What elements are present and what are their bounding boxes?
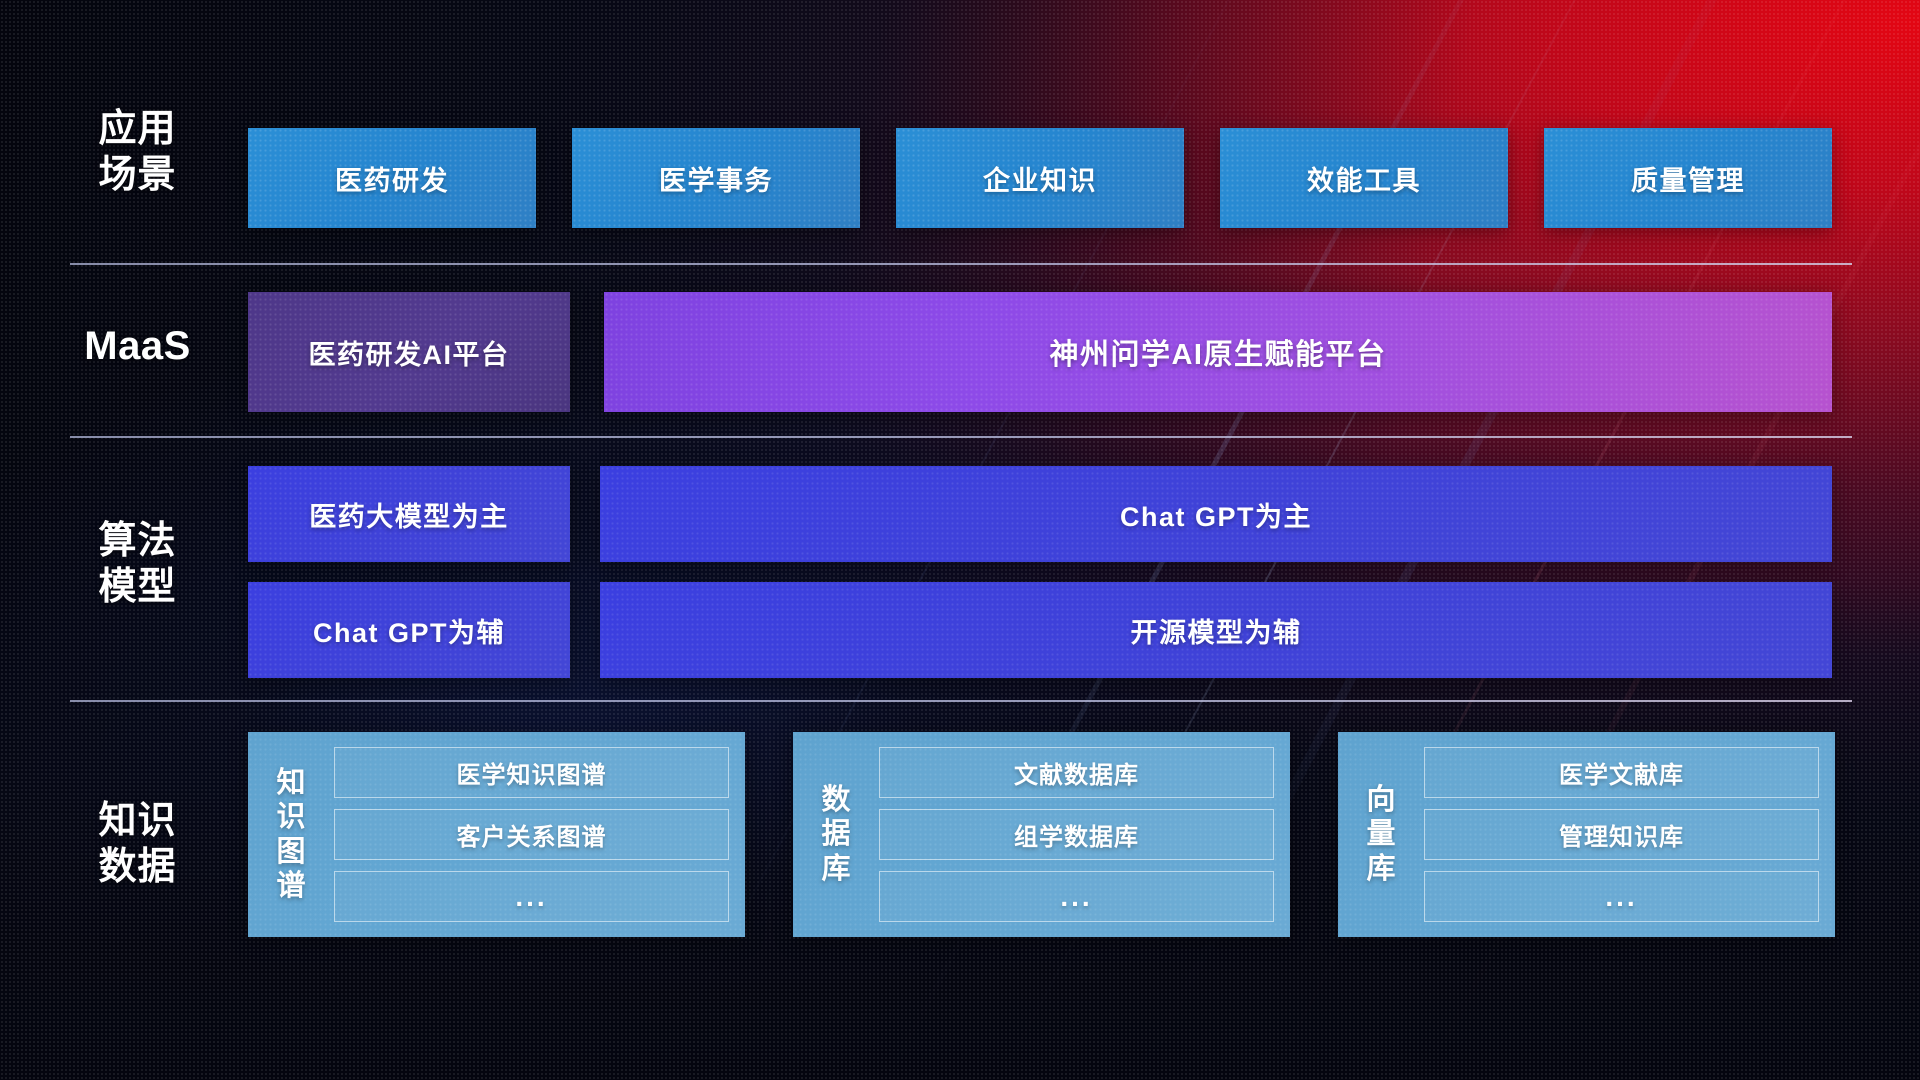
architecture-diagram: 应用场景医药研发医学事务企业知识效能工具质量管理MaaS医药研发AI平台神州问学…: [0, 0, 1920, 1080]
knowledge-item[interactable]: 客户关系图谱: [334, 809, 729, 860]
knowledge-panel-title-char: 库: [807, 852, 865, 886]
maas-box-label: 医药研发AI平台: [309, 333, 510, 372]
knowledge-panel-3[interactable]: 向量库医学文献库管理知识库...: [1338, 732, 1835, 937]
knowledge-item[interactable]: 医学文献库: [1424, 747, 1819, 798]
knowledge-item[interactable]: 文献数据库: [879, 747, 1274, 798]
knowledge-item[interactable]: ...: [879, 871, 1274, 922]
row-label-line: 算法: [70, 518, 205, 564]
maas-box-1[interactable]: 医药研发AI平台: [248, 292, 570, 412]
knowledge-item[interactable]: ...: [334, 871, 729, 922]
algo-bar-right-1[interactable]: Chat GPT为主: [600, 466, 1832, 562]
row-label-line: 场景: [70, 152, 205, 198]
algo-bar-label: 医药大模型为主: [309, 495, 509, 534]
row-label-maas: MaaS: [70, 322, 205, 371]
row-label-line: 应用: [70, 106, 205, 152]
knowledge-panel-title-char: 库: [1352, 852, 1410, 886]
maas-box-label: 神州问学AI原生赋能平台: [1049, 331, 1386, 373]
algo-bar-right-2[interactable]: 开源模型为辅: [600, 582, 1832, 678]
row-label-line: 模型: [70, 564, 205, 610]
row-label-knowledge-data: 知识数据: [70, 798, 205, 891]
knowledge-panel-title: 知识图谱: [262, 766, 320, 903]
knowledge-panel-title-char: 向: [1352, 783, 1410, 817]
knowledge-panel-title-char: 谱: [262, 869, 320, 903]
row-label-line: MaaS: [70, 322, 205, 371]
algo-bar-left-2[interactable]: Chat GPT为辅: [248, 582, 570, 678]
scenario-card-3[interactable]: 企业知识: [896, 128, 1184, 228]
knowledge-item[interactable]: 医学知识图谱: [334, 747, 729, 798]
knowledge-item[interactable]: 管理知识库: [1424, 809, 1819, 860]
knowledge-panel-title-char: 知: [262, 766, 320, 800]
scenario-card-5[interactable]: 质量管理: [1544, 128, 1832, 228]
scenario-card-label: 效能工具: [1307, 159, 1421, 198]
knowledge-item[interactable]: ...: [1424, 871, 1819, 922]
knowledge-panel-2[interactable]: 数据库文献数据库组学数据库...: [793, 732, 1290, 937]
knowledge-panel-title-char: 量: [1352, 817, 1410, 851]
knowledge-panel-title-char: 据: [807, 817, 865, 851]
scenario-card-label: 企业知识: [983, 159, 1097, 198]
knowledge-panel-title-char: 数: [807, 783, 865, 817]
scenario-card-2[interactable]: 医学事务: [572, 128, 860, 228]
knowledge-panel-item-list: 医学知识图谱客户关系图谱...: [334, 747, 729, 922]
row-label-application-scenarios: 应用场景: [70, 106, 205, 199]
knowledge-panel-item-list: 医学文献库管理知识库...: [1424, 747, 1819, 922]
scenario-card-label: 医药研发: [335, 159, 449, 198]
scenario-card-label: 质量管理: [1631, 159, 1745, 198]
knowledge-panel-1[interactable]: 知识图谱医学知识图谱客户关系图谱...: [248, 732, 745, 937]
algo-bar-label: Chat GPT为主: [1120, 495, 1312, 534]
algo-bar-left-1[interactable]: 医药大模型为主: [248, 466, 570, 562]
row-label-line: 数据: [70, 844, 205, 890]
knowledge-panel-title: 向量库: [1352, 783, 1410, 886]
section-divider: [70, 436, 1852, 438]
knowledge-panel-title-char: 图: [262, 835, 320, 869]
algo-bar-label: 开源模型为辅: [1131, 611, 1302, 650]
knowledge-panel-title-char: 识: [262, 800, 320, 834]
row-label-line: 知识: [70, 798, 205, 844]
knowledge-panel-item-list: 文献数据库组学数据库...: [879, 747, 1274, 922]
algo-bar-label: Chat GPT为辅: [313, 611, 505, 650]
scenario-card-4[interactable]: 效能工具: [1220, 128, 1508, 228]
knowledge-panel-title: 数据库: [807, 783, 865, 886]
section-divider: [70, 263, 1852, 265]
section-divider: [70, 700, 1852, 702]
knowledge-item[interactable]: 组学数据库: [879, 809, 1274, 860]
maas-box-2[interactable]: 神州问学AI原生赋能平台: [604, 292, 1832, 412]
row-label-algorithm-models: 算法模型: [70, 518, 205, 611]
scenario-card-1[interactable]: 医药研发: [248, 128, 536, 228]
scenario-card-label: 医学事务: [659, 159, 773, 198]
